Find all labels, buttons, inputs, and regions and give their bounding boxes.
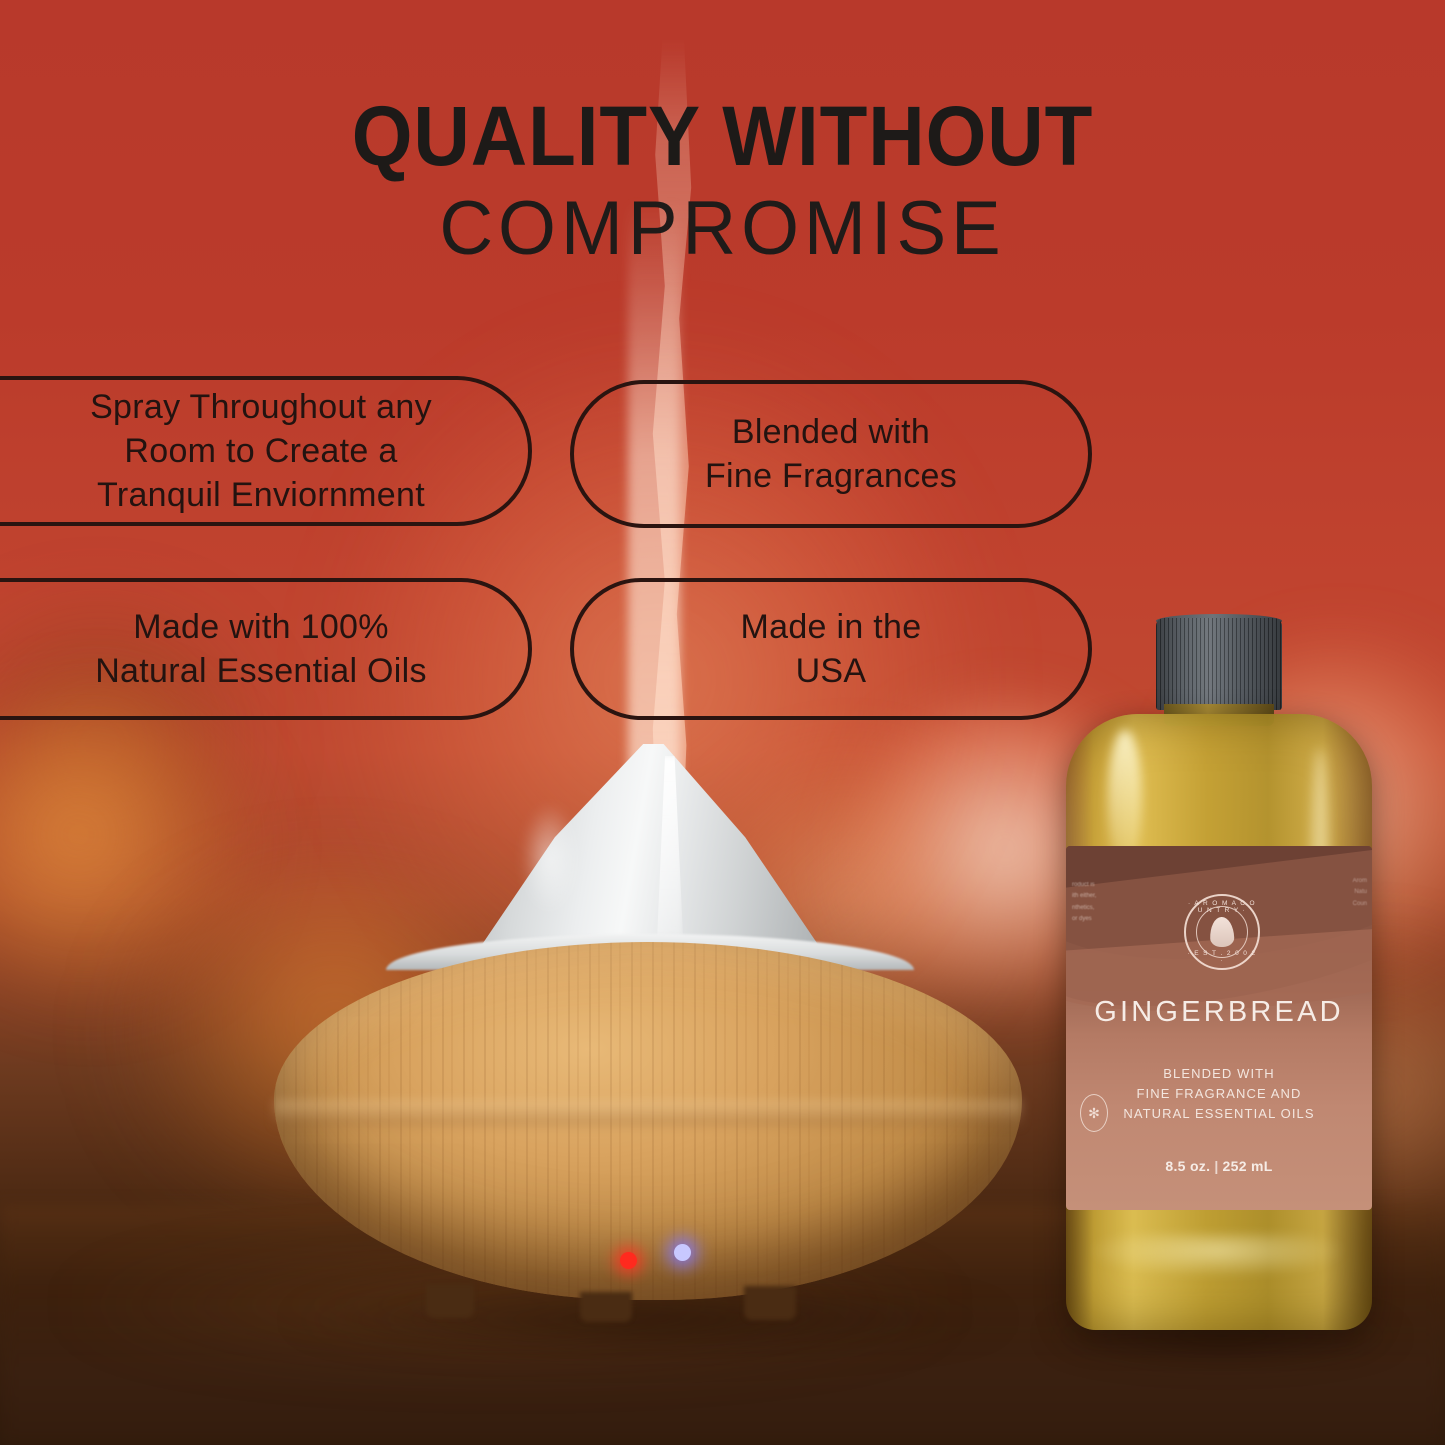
feature-pill-label: Made with 100% Natural Essential Oils [7,605,453,693]
diffuser-foot [426,1284,474,1318]
headline-line-2: COMPROMISE [14,189,1430,269]
product-volume: 8.5 oz.|252 mL [1066,1158,1372,1174]
feature-pill-label: Blended with Fine Fragrances [679,410,983,498]
volume-divider: | [1214,1158,1218,1174]
product-description: BLENDED WITH FINE FRAGRANCE AND NATURAL … [1066,1064,1372,1124]
diffuser-foot [744,1286,796,1320]
feature-pill-spray-throughout-room: Spray Throughout any Room to Create a Tr… [0,376,532,526]
label-side-fine-print-left: roduct is ith either, nthetics, or dyes [1072,880,1106,926]
bottle-cap [1156,618,1282,710]
feature-pill-label: Made in the USA [715,605,948,693]
volume-ounces: 8.5 oz. [1165,1158,1210,1174]
feature-pill-label: Spray Throughout any Room to Create a Tr… [2,385,458,518]
headline-line-1: QUALITY WITHOUT [51,96,1395,177]
led-indicator-blue [674,1244,691,1261]
diffuser-cone-sheen [522,804,578,914]
label-side-fine-print-right: Arom Natu Coun [1339,876,1367,910]
diffuser-body-band [274,1100,1022,1126]
page-title: QUALITY WITHOUT COMPROMISE [0,96,1445,268]
flame-droplet-icon [1209,917,1234,948]
bottle-label: roduct is ith either, nthetics, or dyes … [1066,846,1372,1210]
essential-oil-bottle: roduct is ith either, nthetics, or dyes … [1052,618,1386,1330]
volume-milliliters: 252 mL [1223,1158,1273,1174]
brand-seal: · A R O M A C O U N T R Y · · E S T . 2 … [1184,894,1260,970]
feature-pill-made-in-usa: Made in the USA [570,578,1092,720]
bottle-base-highlight [1092,1234,1342,1276]
label-emblem-badge: ✻ [1080,1094,1108,1132]
led-indicator-red [620,1252,637,1269]
brand-seal-top-text: · A R O M A C O U N T R Y · [1186,900,1258,914]
feature-pill-blended-with-fine-fragrances: Blended with Fine Fragrances [570,380,1092,528]
diffuser-foot [580,1292,632,1322]
brand-seal-bottom-text: · E S T . 2 0 0 2 · [1186,950,1258,964]
flower-emblem-icon: ✻ [1088,1106,1100,1120]
product-name: GINGERBREAD [1066,996,1372,1029]
marketing-image-canvas: QUALITY WITHOUT COMPROMISE Spray Through… [0,0,1445,1445]
feature-pill-natural-essential-oils: Made with 100% Natural Essential Oils [0,578,532,720]
aroma-diffuser [268,744,1028,1314]
